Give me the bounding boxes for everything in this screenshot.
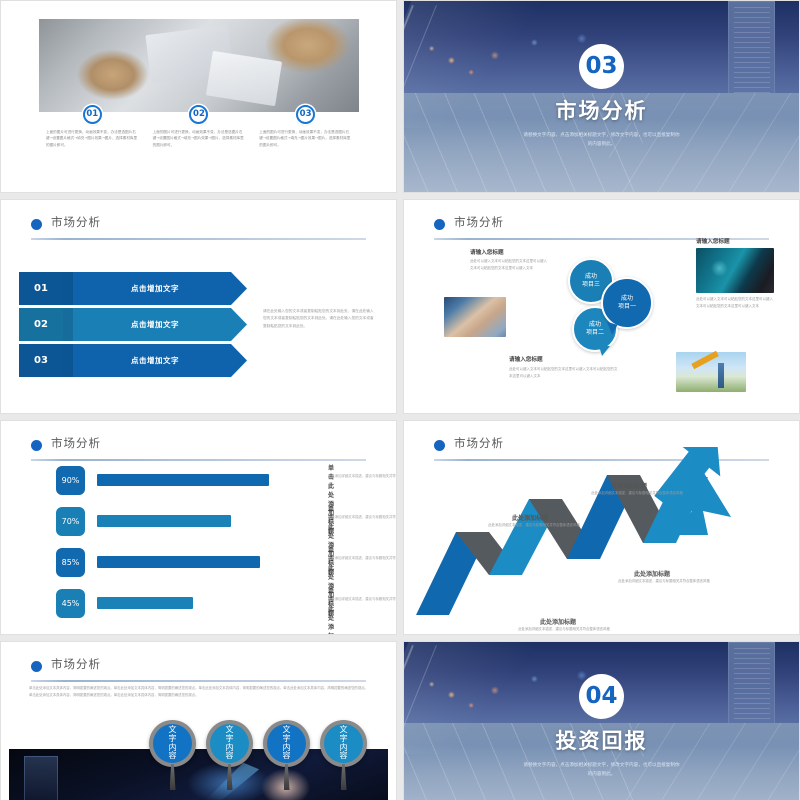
- bubble-project-one[interactable]: 成功项目一: [601, 277, 653, 329]
- section-number-badge: 04: [579, 674, 624, 719]
- construction-crane-photo: [676, 352, 746, 392]
- header-title: 市场分析: [51, 435, 101, 451]
- bar-desc-3: 此处添加详细文本描述，建议与标题相关并符合整体语言风格: [328, 555, 397, 562]
- bar-percent-4: 45%: [56, 589, 85, 618]
- ribbon-number-02: 02: [19, 308, 63, 341]
- slide-bubble-cluster[interactable]: 市场分析 请输入您标题 此处可以键入文本可以粘贴您的文本这里可以键入文本可以粘贴…: [403, 199, 800, 414]
- point-text-03: 上面的图片可进行更换，动画效果不变，办法是选图片右键→设置图片格式→填充→图片效…: [252, 129, 359, 148]
- point-column-02[interactable]: 02 上面的图片可进行更换，动画效果不变，办法是选图片右键→设置图片格式→填充→…: [146, 105, 253, 148]
- bullet-dot-icon: [31, 661, 42, 672]
- arrow-desc-2: 此处添加详细文本描述，建议与标题相关并符合整体语言风格: [516, 626, 612, 632]
- header-rule: [31, 459, 366, 461]
- bar-fill-3: [97, 556, 260, 568]
- slide-header: 市场分析: [31, 435, 366, 457]
- slide-horizontal-bars[interactable]: 市场分析 90% 单击此处添加标题 此处添加详细文本描述，建议与标题相关并符合整…: [0, 420, 397, 635]
- bar-title-4: 单击此处添加标题: [328, 586, 334, 635]
- bubble-three-text: 成功项目三: [582, 273, 600, 289]
- arrow-label-3: 此处添加标题: [611, 481, 647, 490]
- ribbon-row-01[interactable]: 01 点击增加文字: [19, 272, 249, 305]
- arrow-desc-4: 此处添加详细文本描述，建议与标题相关并符合整体语言风格: [616, 578, 712, 584]
- knob-4-label: 文字内容: [324, 724, 363, 763]
- knob-3-label: 文字内容: [267, 724, 306, 763]
- ribbon-list: 01 点击增加文字 02 点击增加文字 03 点击增加文字: [19, 272, 249, 380]
- ribbon-row-02[interactable]: 02 点击增加文字: [19, 308, 249, 341]
- number-badge-02: 02: [189, 105, 208, 124]
- slide-header: 市场分析: [31, 214, 366, 236]
- arrow-label-2: 此处添加标题: [540, 617, 576, 626]
- header-title: 市场分析: [51, 656, 101, 672]
- business-meeting-photo: [39, 19, 359, 112]
- block-title-left: 请输入您标题: [470, 248, 504, 256]
- header-title: 市场分析: [454, 214, 504, 230]
- header-rule: [31, 680, 366, 682]
- point-column-03[interactable]: 03 上面的图片可进行更换，动画效果不变，办法是选图片右键→设置图片格式→填充→…: [252, 105, 359, 148]
- knob-1-label: 文字内容: [153, 724, 192, 763]
- knob-1[interactable]: 文字内容: [149, 720, 196, 767]
- block-text-bottom: 此处可以键入文本可以粘贴您的文本这里可以键入文本可以粘贴您的文本这里可以键入文本: [509, 366, 619, 380]
- bullet-dot-icon: [434, 219, 445, 230]
- knob-3[interactable]: 文字内容: [263, 720, 310, 767]
- arrow-desc-3: 此处添加详细文本描述，建议与标题相关并符合整体语言风格: [589, 490, 685, 496]
- block-text-left: 此处可以键入文本可以粘贴您的文本这里可以键入文本可以粘贴您的文本这里可以键入文本: [470, 258, 548, 272]
- block-text-right: 此处可以键入文本可以粘贴您的文本这里可以键入文本可以粘贴您的文本这里可以键入文本: [696, 296, 776, 310]
- slide-header: 市场分析: [434, 214, 769, 236]
- slide-header: 市场分析: [31, 656, 366, 678]
- arrow-desc-1: 此处添加详细文本描述，建议与标题相关并符合整体语言风格: [486, 522, 582, 528]
- bar-percent-2: 70%: [56, 507, 85, 536]
- ribbon-number-03: 03: [19, 344, 63, 377]
- bar-percent-3: 85%: [56, 548, 85, 577]
- three-point-columns: 01 上面的图片可进行更换，动画效果不变，办法是选图片右键→设置图片格式→填充→…: [39, 105, 359, 148]
- point-column-01[interactable]: 01 上面的图片可进行更换，动画效果不变，办法是选图片右键→设置图片格式→填充→…: [39, 105, 146, 148]
- section-title: 投资回报: [556, 725, 648, 755]
- slide-deck-grid: 01 上面的图片可进行更换，动画效果不变，办法是选图片右键→设置图片格式→填充→…: [0, 0, 800, 800]
- arrow-label-1: 此处添加标题: [512, 513, 548, 522]
- section-number-badge: 03: [579, 44, 624, 89]
- ribbon-label-01: 点击增加文字: [63, 272, 247, 305]
- point-text-01: 上面的图片可进行更换，动画效果不变，办法是选图片右键→设置图片格式→填充→图片效…: [39, 129, 146, 148]
- knob-2[interactable]: 文字内容: [206, 720, 253, 767]
- knob-2-label: 文字内容: [210, 724, 249, 763]
- header-rule: [31, 238, 366, 240]
- header-title: 市场分析: [51, 214, 101, 230]
- bar-desc-2: 此处添加详细文本描述，建议与标题相关并符合整体语言风格: [328, 514, 397, 521]
- section-title: 市场分析: [556, 95, 648, 125]
- section-cover-04[interactable]: 04 投资回报 请替换文字内容，点击添加相关标题文字，修改文字内容，也可以直接复…: [403, 641, 800, 800]
- ribbon-paragraph: 请在此处输入您的文本或者复制粘贴您的文本到此处，请在此处输入您的文本或者复制粘贴…: [263, 308, 375, 330]
- bar-fill-4: [97, 597, 193, 609]
- bar-desc-1: 此处添加详细文本描述，建议与标题相关并符合整体语言风格: [328, 473, 397, 480]
- number-badge-03: 03: [296, 105, 315, 124]
- slide-growth-arrow[interactable]: 市场分析 此处添加标题 此处添加详细文本描述，建议与标题相关并符合整体语言风格 …: [403, 420, 800, 635]
- section-cover-03[interactable]: 03 市场分析 请替换文字内容，点击添加相关标题文字，修改文字内容，也可以直接复…: [403, 0, 800, 193]
- number-badge-01: 01: [83, 105, 102, 124]
- ribbon-label-03: 点击增加文字: [63, 344, 247, 377]
- bar-fill-2: [97, 515, 231, 527]
- section-subtitle: 请替换文字内容，点击添加相关标题文字，修改文字内容，也可以直接复制你的内容到此。: [522, 762, 682, 779]
- block-title-right: 请输入您标题: [696, 237, 730, 245]
- section-subtitle: 请替换文字内容，点击添加相关标题文字，修改文字内容，也可以直接复制你的内容到此。: [522, 132, 682, 149]
- knobs-paragraph: 单击此处添加文本具体内容，简明扼要的阐述您的观点。单击此处添加文本具体内容，简明…: [29, 685, 371, 699]
- bar-desc-4: 此处添加详细文本描述，建议与标题相关并符合整体语言风格: [328, 596, 397, 603]
- ribbon-number-01: 01: [19, 272, 63, 305]
- bubble-two-text: 成功项目二: [586, 321, 604, 337]
- bullet-dot-icon: [31, 440, 42, 451]
- bullet-dot-icon: [31, 219, 42, 230]
- block-title-bottom: 请输入您标题: [509, 355, 543, 363]
- slide-knobs[interactable]: 市场分析 单击此处添加文本具体内容，简明扼要的阐述您的观点。单击此处添加文本具体…: [0, 641, 397, 800]
- touchscreen-photo: [696, 248, 774, 293]
- knob-4[interactable]: 文字内容: [320, 720, 367, 767]
- handshake-photo: [444, 297, 506, 337]
- slide-photo-three-points[interactable]: 01 上面的图片可进行更换，动画效果不变，办法是选图片右键→设置图片格式→填充→…: [0, 0, 397, 193]
- point-text-02: 上面的图片可进行更换，动画效果不变，办法是选图片右键→设置图片格式→填充→图片效…: [146, 129, 253, 148]
- bar-fill-1: [97, 474, 269, 486]
- slide-arrow-ribbons[interactable]: 市场分析 01 点击增加文字 02 点击增加文字 03 点击增加文字 请在此处输…: [0, 199, 397, 414]
- growth-zigzag-arrow: [404, 447, 800, 635]
- arrow-label-4: 此处添加标题: [634, 569, 670, 578]
- ribbon-label-02: 点击增加文字: [63, 308, 247, 341]
- bar-percent-1: 90%: [56, 466, 85, 495]
- bubble-one-text: 成功项目一: [618, 295, 636, 311]
- ribbon-row-03[interactable]: 03 点击增加文字: [19, 344, 249, 377]
